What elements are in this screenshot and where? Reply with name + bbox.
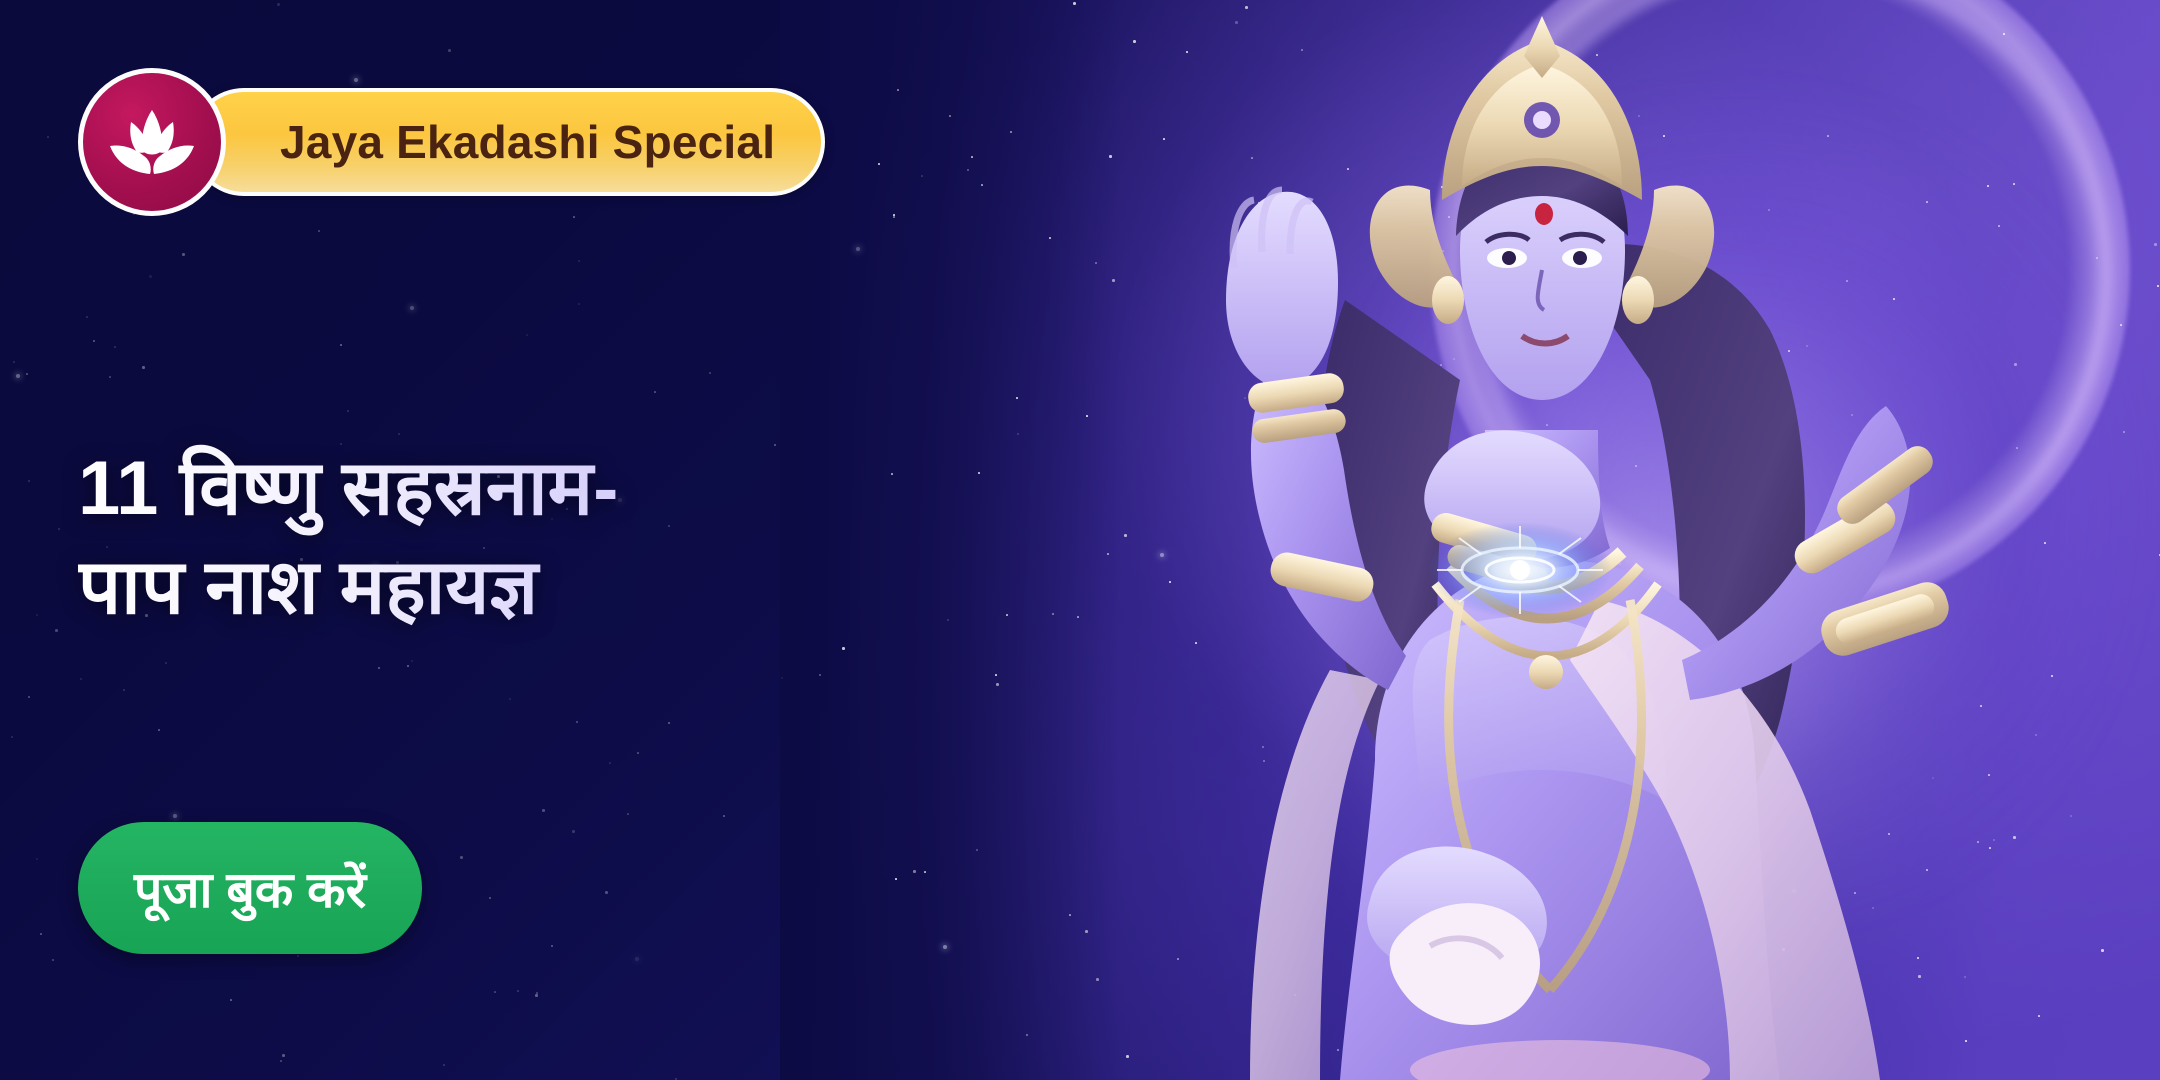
- badge-label: Jaya Ekadashi Special: [194, 115, 821, 169]
- promo-banner: Jaya Ekadashi Special 11 विष्णु सहस्रनाम…: [0, 0, 2160, 1080]
- banner-content: Jaya Ekadashi Special 11 विष्णु सहस्रनाम…: [0, 0, 830, 1080]
- lotus-icon-circle: [78, 68, 226, 216]
- book-puja-button-label: पूजा बुक करें: [134, 854, 366, 922]
- vishnu-illustration: [1130, 0, 2160, 1080]
- headline-line-2: पाप नाश महायज्ञ: [78, 539, 798, 638]
- badge-pill: Jaya Ekadashi Special: [190, 88, 825, 196]
- chakra-icon: [1425, 508, 1615, 648]
- lotus-icon: [106, 106, 198, 178]
- offer-badge[interactable]: Jaya Ekadashi Special: [78, 68, 825, 216]
- left-panel-fade: [780, 0, 1120, 1080]
- headline-line-1: 11 विष्णु सहस्रनाम-: [78, 440, 798, 539]
- page-title: 11 विष्णु सहस्रनाम- पाप नाश महायज्ञ: [78, 440, 798, 638]
- book-puja-button[interactable]: पूजा बुक करें: [78, 822, 422, 954]
